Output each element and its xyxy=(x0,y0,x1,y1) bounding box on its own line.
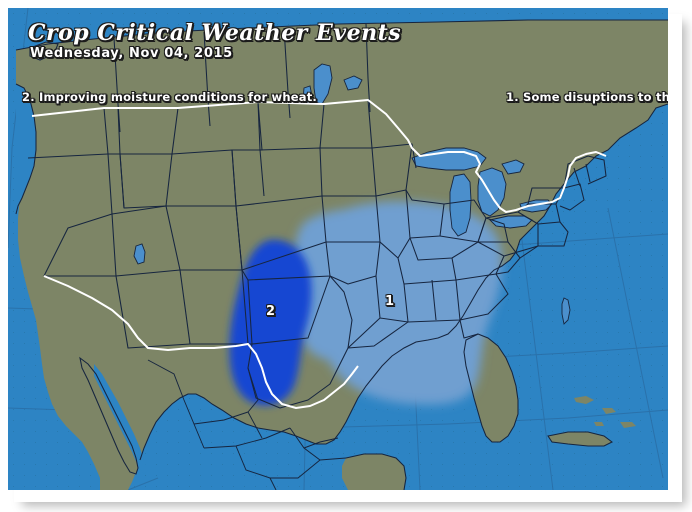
lake-michigan xyxy=(450,174,471,236)
land-yucatan xyxy=(342,454,406,490)
map-frame: Crop Critical Weather Events Wednesday, … xyxy=(0,0,692,512)
map-canvas xyxy=(8,8,668,490)
weather-map[interactable]: Crop Critical Weather Events Wednesday, … xyxy=(8,8,668,490)
